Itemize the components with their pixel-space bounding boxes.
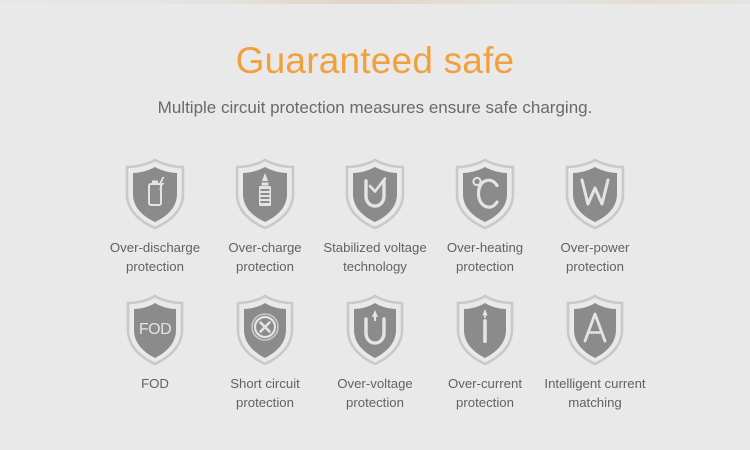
feature-stabilized-voltage[interactable]: Stabilized voltage technology xyxy=(320,158,430,276)
voltage-check-shield-icon xyxy=(342,158,408,230)
feature-label: Over-heating protection xyxy=(431,238,539,276)
features-row-2: FOD FOD Short circuit protection xyxy=(0,294,750,412)
page-subtitle: Multiple circuit protection measures ens… xyxy=(0,81,750,118)
celsius-shield-icon xyxy=(452,158,518,230)
features-row-1: Over-discharge protection xyxy=(0,158,750,276)
fod-shield-icon: FOD xyxy=(122,294,188,366)
feature-over-voltage[interactable]: Over-voltage protection xyxy=(320,294,430,412)
feature-short-circuit[interactable]: Short circuit protection xyxy=(210,294,320,412)
page-title: Guaranteed safe xyxy=(0,0,750,81)
feature-label: Intelligent current matching xyxy=(541,374,649,412)
feature-label: Over-discharge protection xyxy=(101,238,209,276)
feature-over-charge[interactable]: Over-charge protection xyxy=(210,158,320,276)
watt-shield-icon xyxy=(562,158,628,230)
feature-label: Over-voltage protection xyxy=(321,374,429,412)
feature-over-power[interactable]: Over-power protection xyxy=(540,158,650,276)
feature-fod[interactable]: FOD FOD xyxy=(100,294,210,393)
over-voltage-shield-icon xyxy=(342,294,408,366)
over-current-shield-icon xyxy=(452,294,518,366)
feature-intelligent-current[interactable]: Intelligent current matching xyxy=(540,294,650,412)
safety-features-panel: Guaranteed safe Multiple circuit protect… xyxy=(0,0,750,450)
svg-text:FOD: FOD xyxy=(139,321,171,338)
battery-discharge-shield-icon xyxy=(122,158,188,230)
feature-label: Short circuit protection xyxy=(211,374,319,412)
feature-over-current[interactable]: Over-current protection xyxy=(430,294,540,412)
ampere-shield-icon xyxy=(562,294,628,366)
features-grid: Over-discharge protection xyxy=(0,158,750,413)
feature-over-discharge[interactable]: Over-discharge protection xyxy=(100,158,210,276)
feature-label: Over-current protection xyxy=(431,374,539,412)
battery-charge-shield-icon xyxy=(232,158,298,230)
feature-label: Over-power protection xyxy=(541,238,649,276)
feature-label: Stabilized voltage technology xyxy=(321,238,429,276)
short-circuit-shield-icon xyxy=(232,294,298,366)
feature-label: FOD xyxy=(101,374,209,393)
feature-over-heating[interactable]: Over-heating protection xyxy=(430,158,540,276)
feature-label: Over-charge protection xyxy=(211,238,319,276)
page-header: Guaranteed safe Multiple circuit protect… xyxy=(0,0,750,118)
